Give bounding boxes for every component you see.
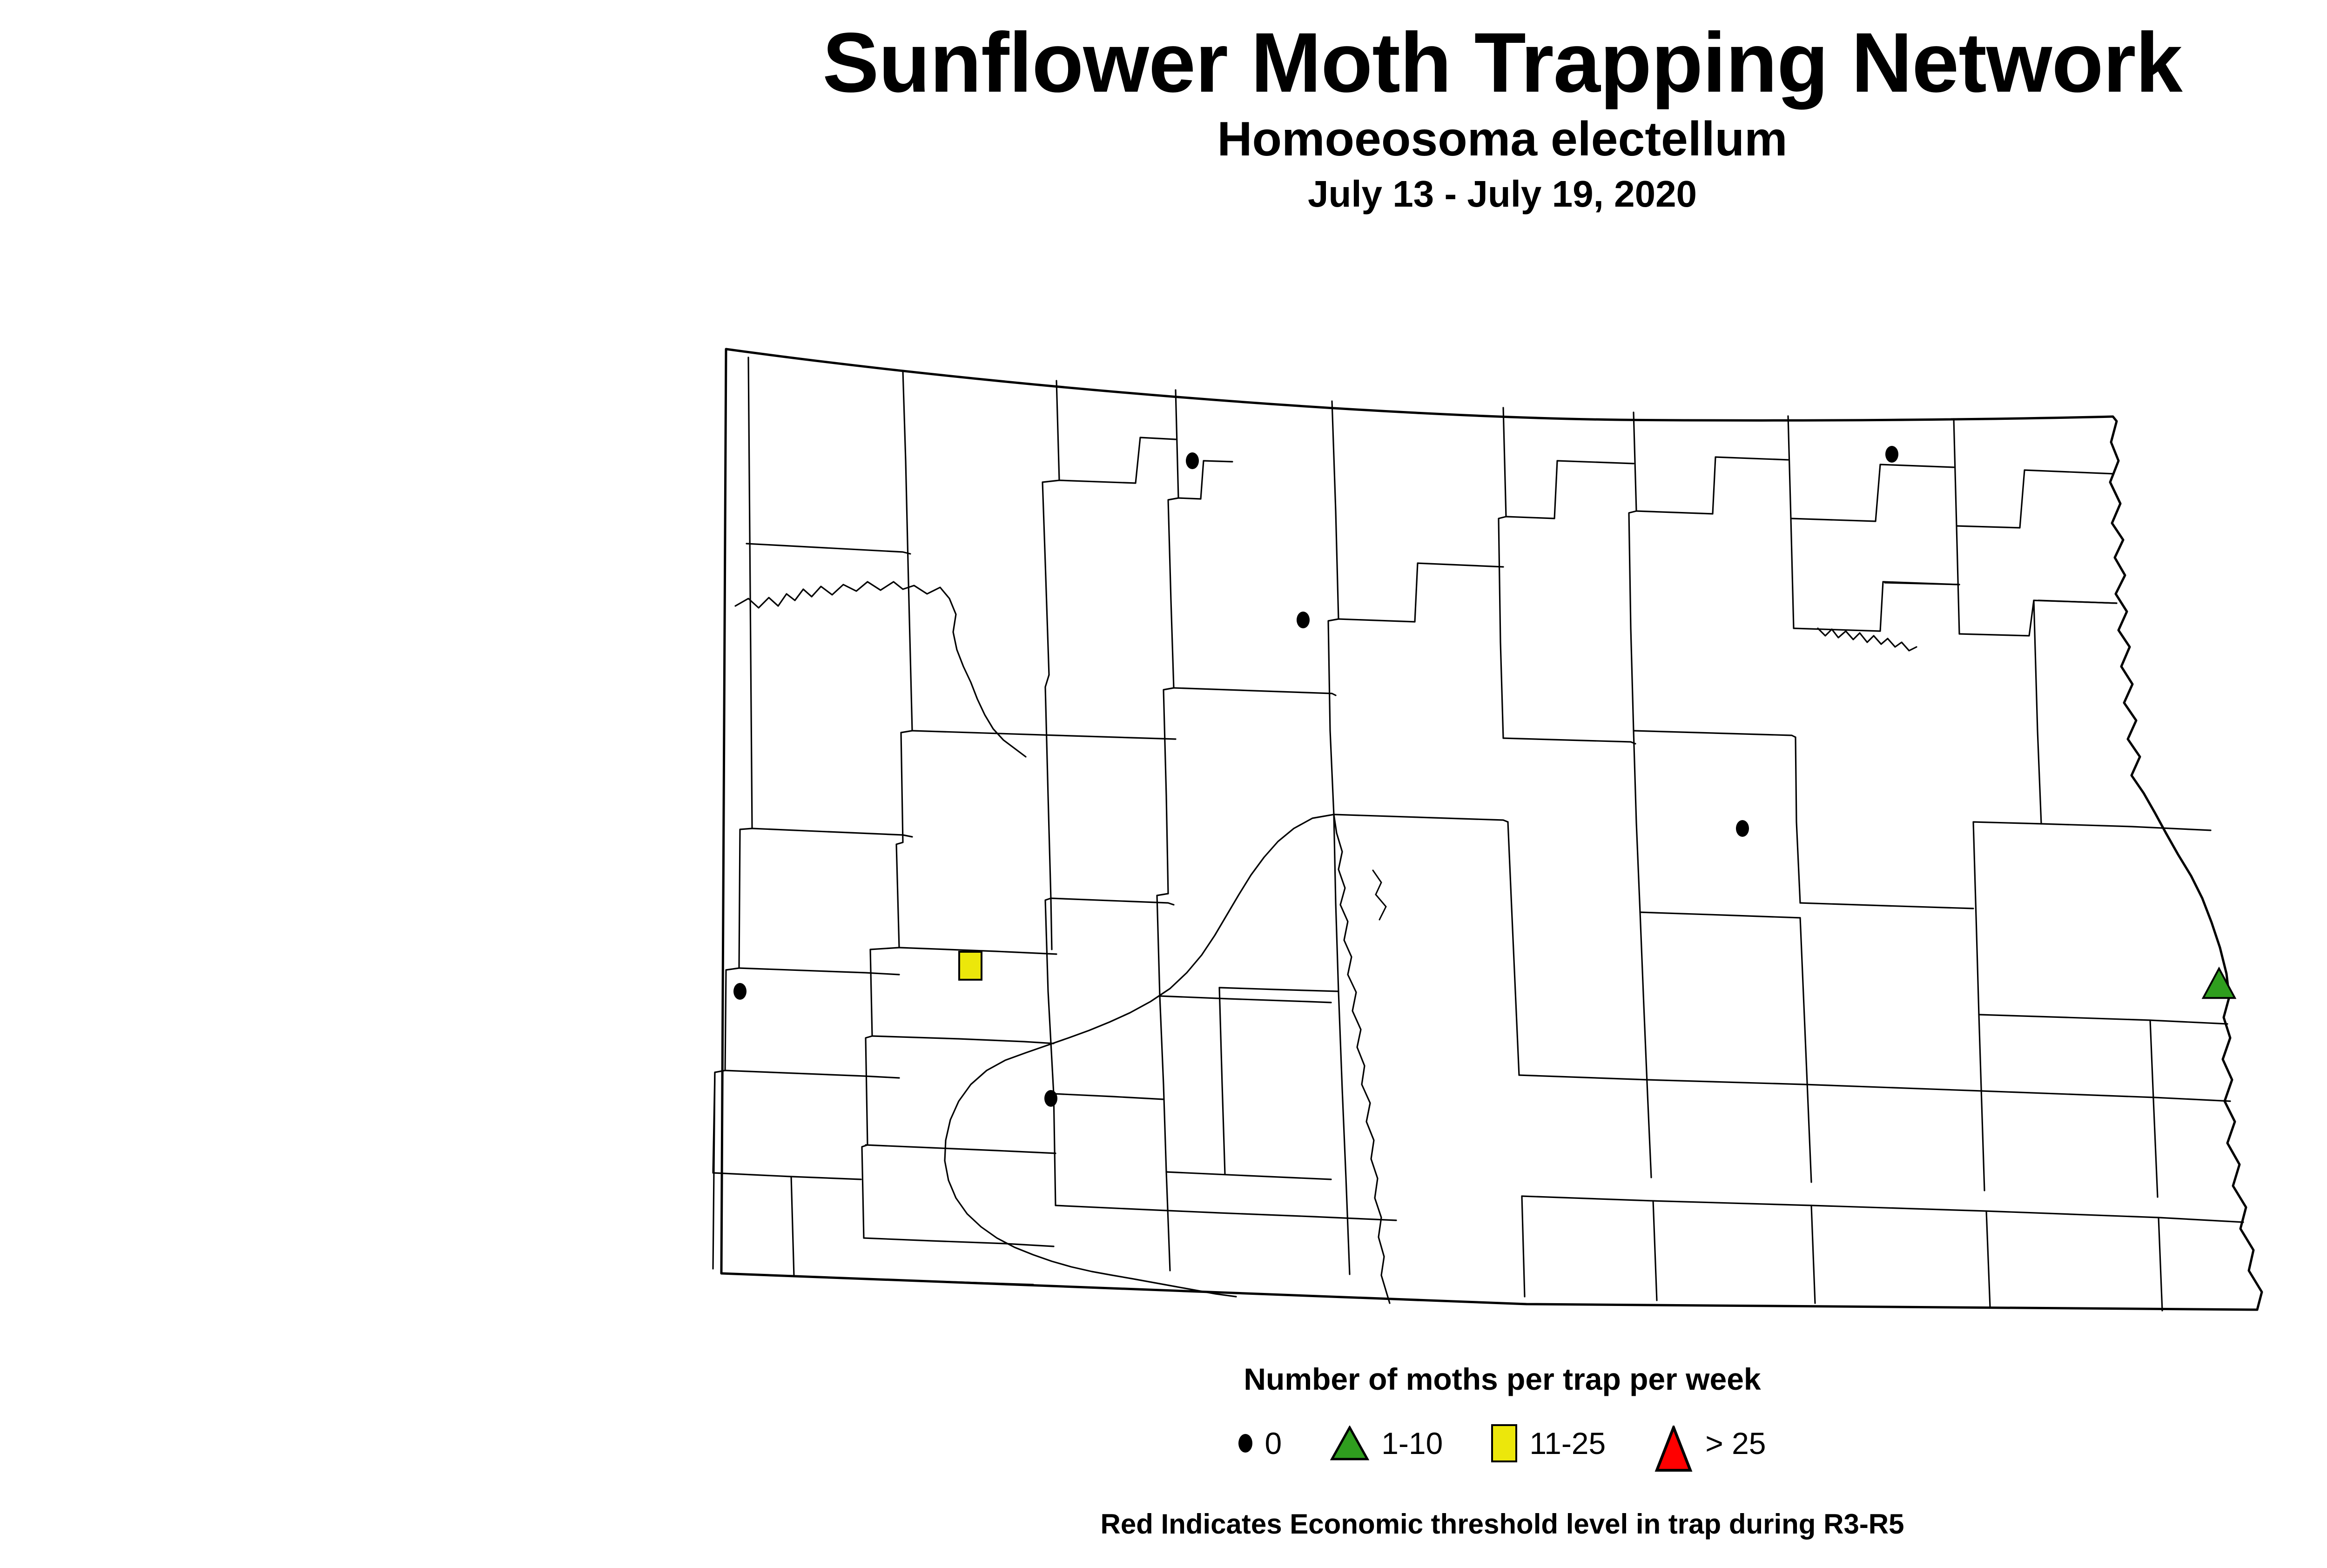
legend-item-mid[interactable]: 11-25 — [1491, 1424, 1606, 1462]
legend-label-zero: 0 — [1264, 1426, 1282, 1461]
trap-marker[interactable] — [1297, 612, 1310, 628]
legend: 0 1-10 11-25 > 25 — [0, 1424, 2327, 1462]
north-dakota-map[interactable] — [670, 321, 2327, 1326]
trap-marker[interactable] — [1044, 1090, 1057, 1107]
economic-threshold-note: Red Indicates Economic threshold level i… — [0, 1508, 2327, 1540]
legend-label-high: > 25 — [1705, 1426, 1766, 1461]
map-page: Sunflower Moth Trapping Network Homoeoso… — [0, 0, 2327, 1568]
trap-marker[interactable] — [1736, 820, 1749, 837]
legend-label-mid: 11-25 — [1529, 1426, 1606, 1461]
state-outline — [721, 349, 2262, 1310]
title-block: Sunflower Moth Trapping Network Homoeoso… — [0, 19, 2327, 215]
state-outline-group — [721, 349, 2262, 1310]
triangle-green-marker-icon — [1330, 1426, 1369, 1461]
legend-label-low: 1-10 — [1381, 1426, 1443, 1461]
species-name: Homoeosoma electellum — [0, 112, 2327, 166]
trap-marker[interactable] — [1186, 452, 1199, 469]
legend-title: Number of moths per trap per week — [0, 1361, 2327, 1397]
trap-marker[interactable] — [733, 983, 747, 1000]
legend-item-low[interactable]: 1-10 — [1330, 1426, 1443, 1461]
legend-item-zero[interactable]: 0 — [1238, 1426, 1282, 1461]
page-title: Sunflower Moth Trapping Network — [0, 19, 2327, 107]
square-yellow-marker-icon — [1491, 1424, 1517, 1462]
triangle-red-marker-icon — [1654, 1426, 1693, 1461]
trap-marker[interactable] — [959, 952, 982, 980]
trap-marker[interactable] — [1885, 446, 1898, 463]
legend-item-high[interactable]: > 25 — [1654, 1426, 1766, 1461]
map-svg — [670, 321, 2327, 1326]
date-range: July 13 - July 19, 2020 — [0, 173, 2327, 215]
circle-marker-icon — [1238, 1434, 1252, 1453]
